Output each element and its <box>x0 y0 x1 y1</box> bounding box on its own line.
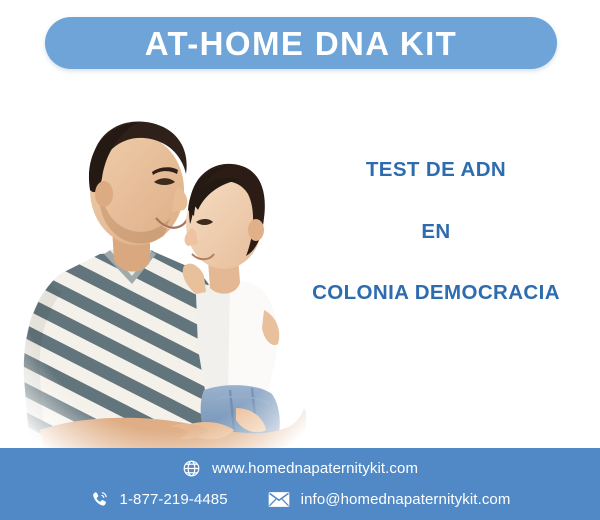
email-item[interactable]: info@homednapaternitykit.com <box>268 491 511 508</box>
phone-item[interactable]: 1-877-219-4485 <box>90 490 228 509</box>
page-title: AT-HOME DNA KIT <box>145 27 457 60</box>
promo-line-service: TEST DE ADN <box>286 160 586 181</box>
footer-contact-row: 1-877-219-4485 info@homednapaternitykit.… <box>0 490 600 509</box>
promo-line-connector: EN <box>286 222 586 243</box>
website-item[interactable]: www.homednapaternitykit.com <box>182 459 418 478</box>
globe-icon <box>182 459 201 478</box>
footer-bar: www.homednapaternitykit.com 1-877-219-44… <box>0 448 600 520</box>
header-banner: AT-HOME DNA KIT <box>45 17 557 69</box>
father-and-child-image <box>0 78 330 450</box>
envelope-icon <box>268 491 290 508</box>
email-text: info@homednapaternitykit.com <box>301 491 511 508</box>
promo-line-location: COLONIA DEMOCRACIA <box>286 283 586 304</box>
footer-website-row: www.homednapaternitykit.com <box>0 459 600 478</box>
website-text: www.homednapaternitykit.com <box>212 460 418 477</box>
hero-photo <box>0 78 330 450</box>
phone-icon <box>90 490 109 509</box>
phone-text: 1-877-219-4485 <box>120 491 228 508</box>
promo-text-block: TEST DE ADN EN COLONIA DEMOCRACIA <box>286 160 586 304</box>
